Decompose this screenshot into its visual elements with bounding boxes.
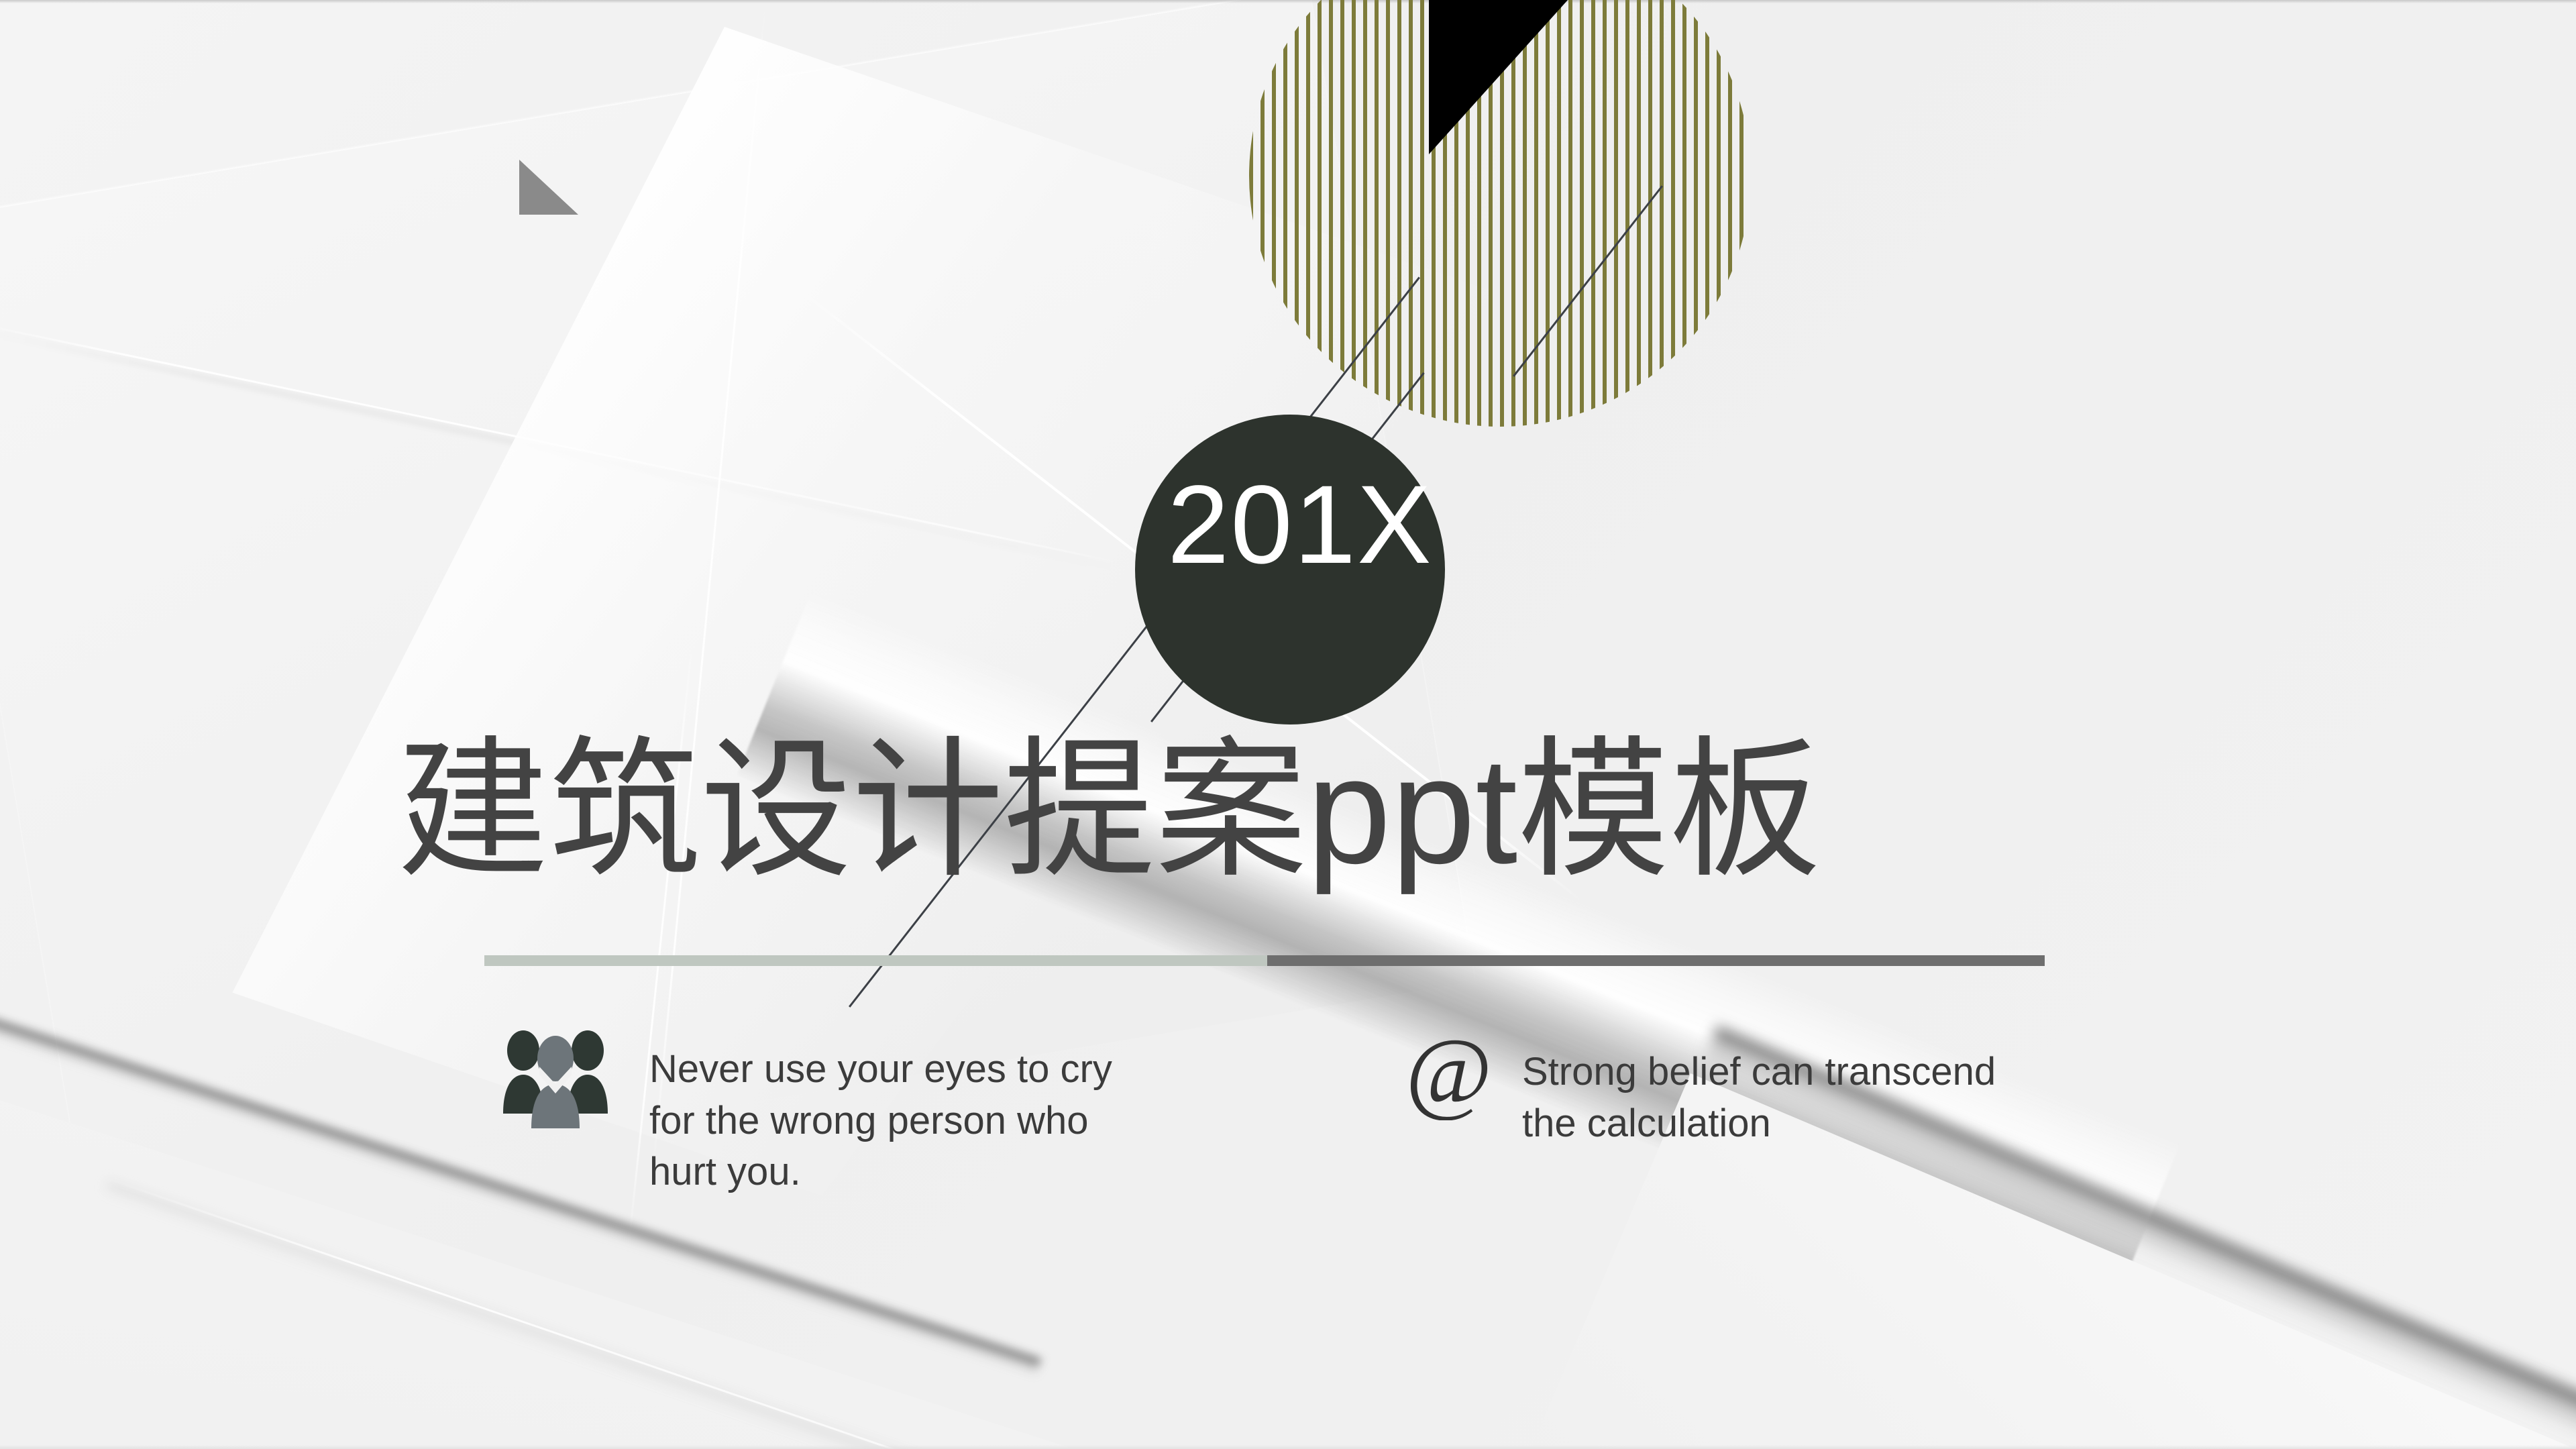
- people-group-icon: [502, 1028, 609, 1132]
- tagline-text-people: Never use your eyes to cry for the wrong…: [649, 1044, 1112, 1198]
- page-title: 建筑设计提案ppt模板: [397, 731, 1821, 889]
- svg-text:@: @: [1406, 1030, 1493, 1120]
- divider-segment-left: [484, 955, 1267, 966]
- title-divider: [484, 955, 2045, 966]
- at-sign-icon: @: [1405, 1030, 1493, 1124]
- gray-triangle-icon: [519, 160, 578, 215]
- tagline-item-at: @ Strong belief can transcend the calcul…: [1405, 1026, 1996, 1149]
- divider-segment-right: [1267, 955, 2045, 966]
- tagline-text-at: Strong belief can transcend the calculat…: [1522, 1046, 1996, 1149]
- tagline-item-people: Never use your eyes to cry for the wrong…: [502, 1028, 1112, 1198]
- presentation-slide: 201X 建筑设计提案ppt模板 Never use your eyes to …: [0, 0, 2576, 1449]
- year-label: 201X: [1167, 470, 1583, 581]
